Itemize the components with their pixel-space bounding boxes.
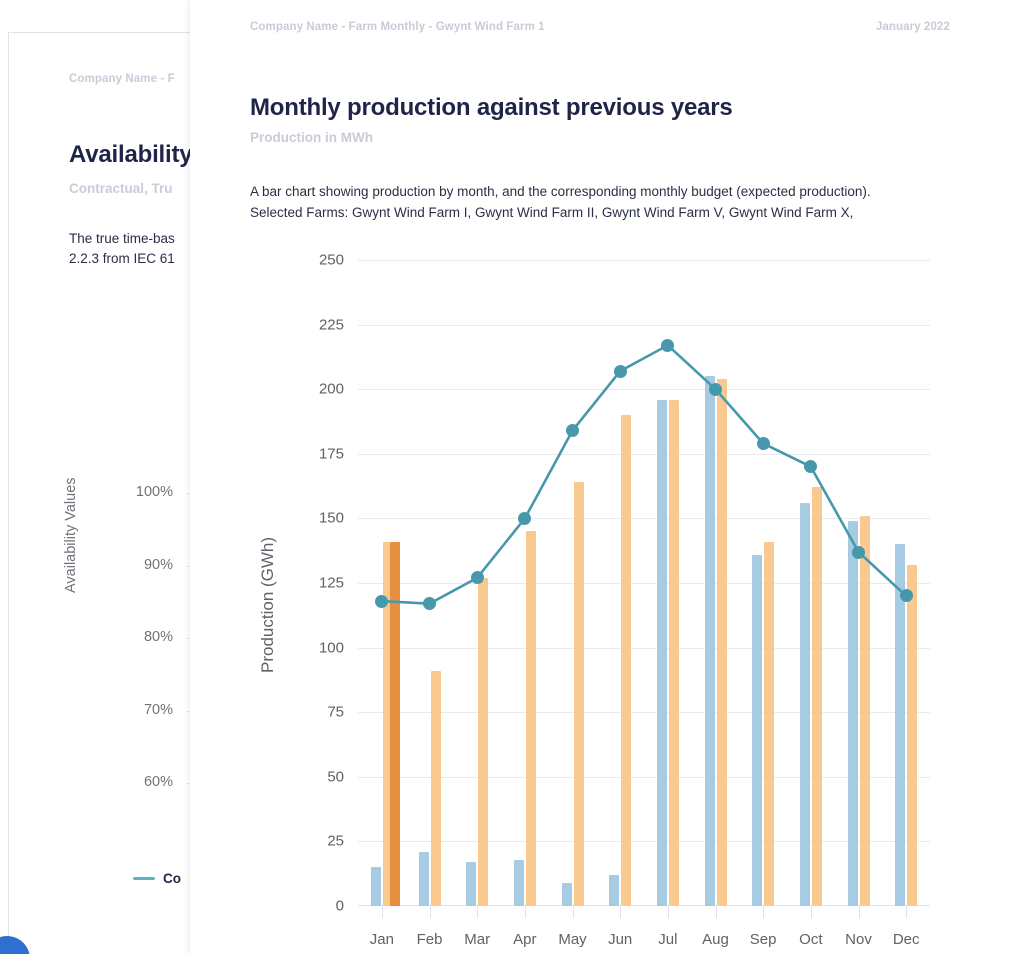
chart-x-tick-mark <box>763 906 764 918</box>
background-y-tick-label: 60% <box>69 774 173 790</box>
background-y-tick-label: 100% <box>69 484 173 500</box>
chart-x-tick-mark <box>716 906 717 918</box>
description-line-1: A bar chart showing production by month,… <box>250 182 990 203</box>
chart-y-tick-label: 175 <box>274 445 344 462</box>
chart-y-tick-label: 50 <box>274 768 344 785</box>
chart-line-point[interactable] <box>709 383 722 396</box>
production-chart[interactable]: Production (GWh) 02550751001251501752002… <box>250 248 990 948</box>
background-legend-label: Co <box>163 871 181 886</box>
chart-line-point[interactable] <box>852 546 865 559</box>
chart-line-point[interactable] <box>375 595 388 608</box>
chart-y-tick-label: 200 <box>274 381 344 398</box>
chart-y-tick-label: 150 <box>274 510 344 527</box>
background-page-subtitle: Contractual, Tru <box>69 181 173 196</box>
page-title: Monthly production against previous year… <box>250 94 733 122</box>
chart-line-series <box>358 260 930 906</box>
page-header-date: January 2022 <box>876 21 950 33</box>
description-line-2: Selected Farms: Gwynt Wind Farm I, Gwynt… <box>250 203 990 224</box>
background-chart-legend-item: Co <box>133 871 181 886</box>
chart-x-tick-mark <box>525 906 526 918</box>
page-header-breadcrumb: Company Name - Farm Monthly - Gwynt Wind… <box>250 21 545 33</box>
background-page-header: Company Name - F <box>69 73 175 85</box>
report-page[interactable]: Company Name - Farm Monthly - Gwynt Wind… <box>190 0 1010 954</box>
chart-y-tick-label: 225 <box>274 316 344 333</box>
background-body-line-2: 2.2.3 from IEC 61 <box>69 249 175 269</box>
chart-plot-area[interactable]: 0255075100125150175200225250JanFebMarApr… <box>358 260 930 906</box>
page-description: A bar chart showing production by month,… <box>250 182 990 223</box>
chart-y-tick-label: 0 <box>274 898 344 915</box>
background-y-tick-label: 90% <box>69 557 173 573</box>
chart-y-tick-label: 250 <box>274 252 344 269</box>
chart-x-tick-mark <box>477 906 478 918</box>
chart-x-tick-mark <box>811 906 812 918</box>
chart-x-tick-mark <box>620 906 621 918</box>
chart-x-tick-label: Dec <box>876 931 936 948</box>
chart-y-tick-label: 125 <box>274 575 344 592</box>
chart-y-tick-label: 75 <box>274 704 344 721</box>
background-y-tick-label: 70% <box>69 702 173 718</box>
chart-x-tick-mark <box>573 906 574 918</box>
chart-x-tick-mark <box>382 906 383 918</box>
screen-root: Company Name - F Availability Contractua… <box>0 0 1010 954</box>
page-header: Company Name - Farm Monthly - Gwynt Wind… <box>250 21 950 33</box>
background-page-title: Availability <box>69 141 192 169</box>
chart-line-point[interactable] <box>757 437 770 450</box>
chart-x-tick-mark <box>859 906 860 918</box>
background-page-body: The true time-bas 2.2.3 from IEC 61 <box>69 229 175 269</box>
legend-line-icon <box>133 877 155 880</box>
page-subtitle: Production in MWh <box>250 130 373 145</box>
chart-x-tick-mark <box>430 906 431 918</box>
chart-line-point[interactable] <box>471 571 484 584</box>
chart-y-tick-label: 25 <box>274 833 344 850</box>
background-y-tick-label: 80% <box>69 629 173 645</box>
chart-x-tick-mark <box>668 906 669 918</box>
chart-line-point[interactable] <box>614 365 627 378</box>
chart-y-tick-label: 100 <box>274 639 344 656</box>
background-body-line-1: The true time-bas <box>69 229 175 249</box>
chart-line-point[interactable] <box>566 424 579 437</box>
chart-x-tick-mark <box>906 906 907 918</box>
